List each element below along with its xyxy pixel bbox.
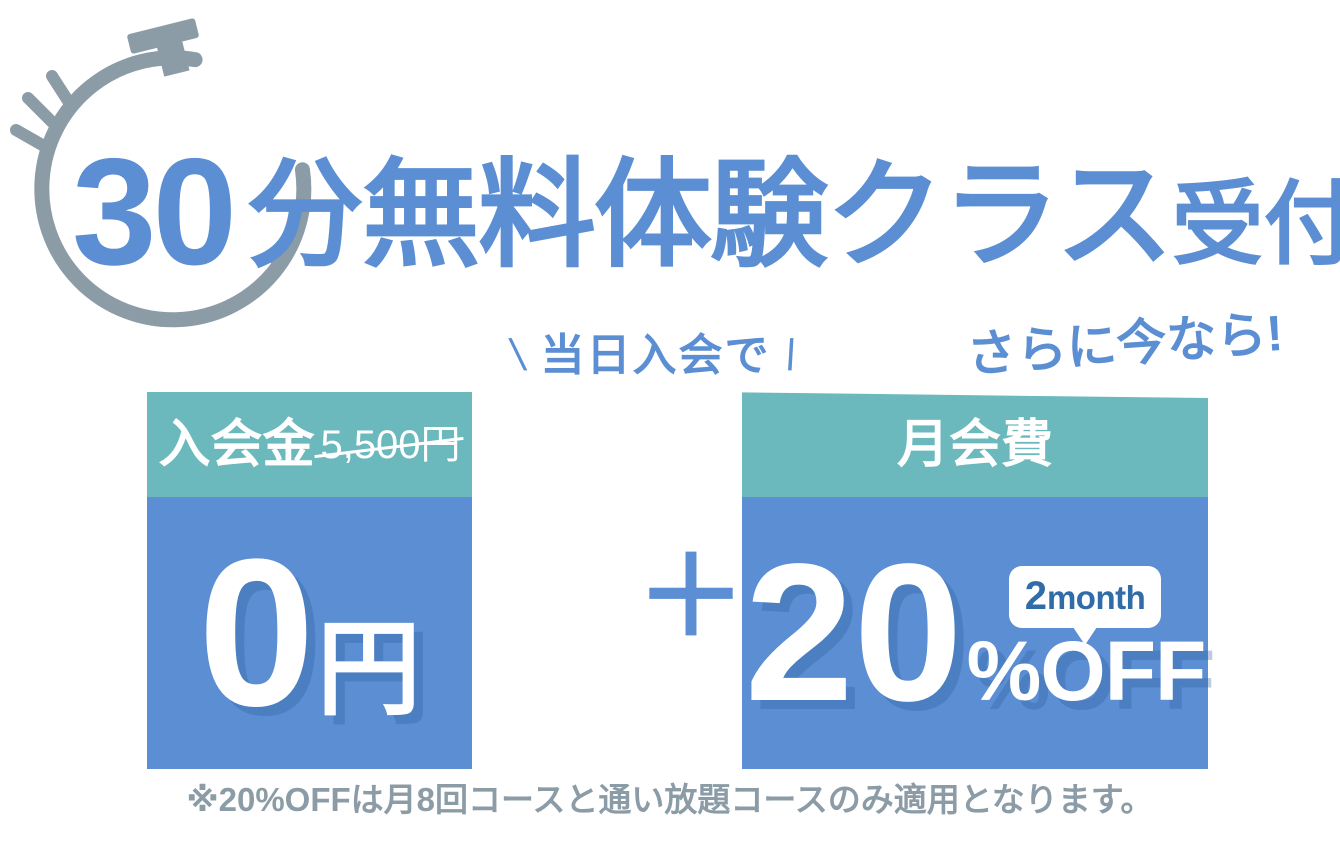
subheadline-same-day: \ 当日入会で / [512,334,799,378]
monthly-fee-discount-number: 20 [745,535,963,731]
duration-badge-unit: month [1047,581,1145,614]
subheadline-same-day-label: 当日入会で [540,331,770,380]
duration-badge-tail-icon [1073,627,1097,645]
page-title: 分無料体験クラス受付中! [246,157,1340,275]
enrollment-fee-original-price: 5,500円 [320,425,460,465]
plus-icon: ＋ [636,548,708,648]
duration-badge-text: 2month [1025,576,1146,616]
monthly-fee-discount: 20%OFF [745,535,1206,731]
headline-tail: 受付中! [1172,174,1340,276]
headline-minute-suffix: 分 [246,150,362,282]
duration-badge-number: 2 [1025,576,1047,616]
stopwatch-minutes: 30 [72,136,233,288]
monthly-fee-body: 20%OFF [742,497,1208,769]
subheadline-extra-offer: さらに今なら! [965,308,1284,380]
headline-main: 無料体験クラス [362,150,1172,282]
monthly-fee-label: 月会費 [897,419,1053,471]
duration-badge: 2month [1009,566,1161,628]
enrollment-fee-price-number: 0 [198,528,315,738]
enrollment-fee-body: 0円 [147,497,472,769]
enrollment-fee-label: 入会金 [158,419,314,471]
enrollment-fee-card: 入会金5,500円 0円 [147,392,472,769]
monthly-fee-header: 月会費 [742,392,1208,497]
slash-left-icon: \ [507,334,531,378]
enrollment-fee-header: 入会金5,500円 [147,392,472,497]
enrollment-fee-price-unit: 円 [317,618,421,722]
disclaimer-note: ※20%OFFは月8回コースと通い放題コースのみ適用となります。 [0,780,1340,820]
slash-right-icon: / [780,334,804,378]
enrollment-fee-price: 0円 [198,528,421,738]
